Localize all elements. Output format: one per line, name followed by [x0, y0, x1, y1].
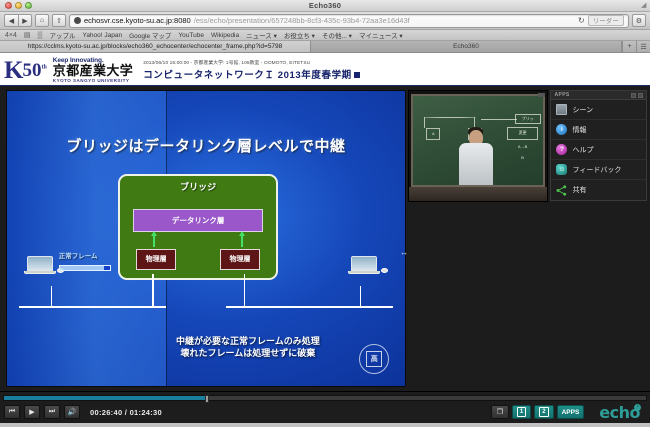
course-badge-icon [354, 72, 360, 78]
volume-button[interactable]: 🔊 [64, 405, 80, 419]
bookmark-item-wikipedia[interactable]: Wikipedia [211, 32, 239, 39]
arrow-up-left [151, 231, 157, 236]
computer-left-screen [27, 256, 53, 271]
computer-left-stand [51, 286, 53, 307]
logo-50-anniversary: 50th [22, 61, 46, 80]
bridge-group-box: ブリッジ データリンク層 物理層 物理層 [118, 174, 277, 280]
bridge-left-cable [152, 274, 154, 306]
reader-button[interactable]: リーダー [588, 15, 624, 26]
bridge-right-cable [244, 274, 246, 306]
browser-toolbar: ◀ ▶ ⌂ ⇧ echosvr.cse.kyoto-su.ac.jp:8080 … [0, 12, 650, 30]
computer-right-mouse [381, 268, 388, 273]
apps-item-feedback[interactable]: ☺ フィードバック [551, 160, 646, 180]
top-sites-icon[interactable]: ▒ [38, 32, 43, 39]
chalkboard-box-b: B [515, 152, 531, 164]
window-title: Echo360 [0, 1, 650, 10]
datalink-layer-box: データリンク層 [133, 209, 263, 231]
watermark-glyph: 高 [366, 351, 382, 367]
chalkboard-box-a: A [426, 128, 440, 140]
apps-item-feedback-label: フィードバック [572, 165, 621, 175]
bookmark-folder-news[interactable]: ニュース ▾ [246, 30, 277, 40]
layout-button[interactable]: ❐ [491, 405, 509, 419]
window-titlebar: Echo360 ◢ [0, 0, 650, 12]
next-button[interactable]: ⏭ [44, 405, 60, 419]
seek-bar[interactable] [3, 395, 647, 401]
chalk-stroke-2 [424, 117, 476, 118]
computer-left-base [24, 271, 56, 274]
feedback-icon: ☺ [556, 164, 567, 175]
slide-note: 中継が必要な正常フレームのみ処理 壊れたフレームは処理せずに破棄 [103, 335, 394, 359]
window-bottom-edge [0, 423, 650, 427]
bridge-label: ブリッジ [120, 180, 275, 193]
slide-note-line2: 壊れたフレームは処理せずに破棄 [103, 347, 394, 359]
address-bar-actions: ↻ リーダー [578, 15, 624, 26]
apps-item-scene[interactable]: シーン [551, 100, 646, 120]
video-corner-marker [538, 93, 545, 97]
chalkboard-note-2: A→B [507, 141, 538, 153]
echo360-logo: echo° [599, 403, 640, 422]
chalk-stroke-1 [424, 117, 425, 128]
apps-item-help-label: ヘルプ [572, 145, 593, 155]
chalkboard: ブリッ A V 変更 A→B B [411, 94, 545, 187]
share-button[interactable]: ⇧ [52, 14, 66, 27]
browser-window: Echo360 ◢ ◀ ▶ ⌂ ⇧ echosvr.cse.kyoto-su.a… [0, 0, 650, 427]
lock-icon [74, 17, 81, 24]
reading-list-icon[interactable]: ▤ [24, 31, 31, 39]
nav-button-group: ◀ ▶ [4, 14, 32, 27]
normal-frame-label: 正常フレーム [59, 250, 98, 260]
bookmarks-bar: 4×4 ▤ ▒ アップル Yahoo! Japan Google マップ You… [0, 30, 650, 41]
apps-item-share[interactable]: 共有 [551, 180, 646, 200]
presentation-meta-block: 2013/06/10 15:00:00 - 京都産業大学: 1号館, 105教室… [143, 59, 360, 81]
apps-item-help[interactable]: ? ヘルプ [551, 140, 646, 160]
forward-button[interactable]: ▶ [18, 14, 32, 27]
seek-row [0, 392, 650, 401]
kyoto-sangyo-logo: K 50th [4, 58, 47, 83]
bookmark-folder-mynews[interactable]: マイニュース ▾ [359, 30, 403, 40]
new-tab-button[interactable]: + [622, 41, 636, 52]
apps-panel-header-buttons[interactable] [631, 93, 643, 98]
physical-layer-left-box: 物理層 [136, 249, 176, 269]
info-icon: i [556, 124, 567, 135]
lecturer-video[interactable]: ブリッ A V 変更 A→B B [408, 90, 548, 202]
slide-canvas: ブリッジはデータリンク層レベルで中継 ブリッジ データリンク層 物理層 物理層 [6, 90, 406, 387]
slide-note-line1: 中継が必要な正常フレームのみ処理 [103, 335, 394, 347]
arrow-up-right [239, 231, 245, 236]
apps-item-scene-label: シーン [572, 105, 593, 115]
tab-cclms[interactable]: https://cclms.kyoto-su.ac.jp/blocks/echo… [0, 41, 311, 52]
university-name-en: KYOTO SANGYO UNIVERSITY [53, 78, 133, 83]
computer-right-stand [360, 286, 362, 307]
player-controls-bar: ⏮ ▶ ⏭ 🔊 00:26:40 / 01:24:30 ❐ 1 2 APPS e… [0, 391, 650, 423]
normal-frame-packet [59, 265, 111, 271]
apps-panel-title: APPS [554, 92, 569, 98]
university-watermark: 高 [359, 344, 389, 374]
computer-right-base [348, 271, 380, 274]
address-bar[interactable]: echosvr.cse.kyoto-su.ac.jp:8080 /ess/ech… [69, 14, 629, 28]
physical-layer-right-box: 物理層 [220, 249, 260, 269]
scene-icon [556, 104, 567, 115]
computer-right [351, 256, 385, 274]
view-one-button[interactable]: 1 [512, 405, 531, 419]
url-path: /ess/echo/presentation/657248bb-8cf3-435… [194, 16, 410, 25]
apps-panel-header: APPS [551, 91, 646, 100]
logo-k-letter: K [4, 58, 21, 83]
slide-title: ブリッジはデータリンク層レベルで中継 [7, 135, 405, 156]
panel-resize-handle[interactable]: ↔ [400, 248, 408, 257]
tab-overview-button[interactable]: ☰ [636, 41, 650, 52]
lecture-desk [409, 187, 547, 201]
bookmark-folder-other[interactable]: その他... ▾ [322, 30, 352, 40]
previous-button[interactable]: ⏮ [4, 405, 20, 419]
help-icon: ? [556, 144, 567, 155]
course-title: コンピュータネットワークＩ 2013年度春学期 [143, 67, 360, 81]
chalk-stroke-4 [481, 119, 517, 120]
chalkboard-bridge-label: ブリッ [515, 114, 541, 124]
computer-left [27, 256, 61, 274]
lecturer-body [459, 143, 493, 185]
university-name-jp: 京都産業大学 [53, 64, 133, 78]
bookmark-folder-useful[interactable]: お役立ち ▾ [284, 30, 315, 40]
apps-item-info[interactable]: i 情報 [551, 120, 646, 140]
settings-button[interactable]: ⚙ [632, 14, 646, 27]
bookmark-item-googlemaps[interactable]: Google マップ [129, 30, 171, 40]
resize-handle[interactable]: ◢ [641, 2, 648, 9]
apps-minimize-icon[interactable] [631, 93, 636, 98]
tab-echo360[interactable]: Echo360 [311, 41, 622, 52]
back-button[interactable]: ◀ [4, 14, 18, 27]
slide-panel[interactable]: ブリッジはデータリンク層レベルで中継 ブリッジ データリンク層 物理層 物理層 [0, 86, 406, 391]
time-display: 00:26:40 / 01:24:30 [90, 408, 162, 417]
home-button[interactable]: ⌂ [35, 14, 49, 27]
chalkboard-note-1: 変更 [507, 127, 538, 139]
presentation-datetime-location: 2013/06/10 15:00:00 - 京都産業大学: 1号館, 105教室… [143, 59, 360, 66]
url-host: echosvr.cse.kyoto-su.ac.jp:8080 [84, 16, 191, 25]
share-icon [556, 185, 567, 196]
transport-controls: ⏮ ▶ ⏭ 🔊 00:26:40 / 01:24:30 ❐ 1 2 APPS e… [0, 401, 650, 423]
page-header: K 50th Keep Innovating. 京都産業大学 KYOTO SAN… [0, 53, 650, 86]
bookmark-item-apple[interactable]: アップル [49, 30, 75, 40]
computer-right-screen [351, 256, 377, 271]
right-controls: ❐ 1 2 APPS echo° [491, 403, 646, 422]
apps-panel: APPS シーン i 情報 ? ヘルプ ☺ フィードバック [550, 90, 647, 201]
bookmark-item-youtube[interactable]: YouTube [178, 32, 204, 39]
video-panel[interactable]: ブリッ A V 変更 A→B B [406, 86, 550, 391]
seek-handle[interactable] [205, 395, 209, 403]
university-name-block: Keep Innovating. 京都産業大学 KYOTO SANGYO UNI… [53, 57, 133, 83]
play-button[interactable]: ▶ [24, 405, 40, 419]
apps-close-icon[interactable] [638, 93, 643, 98]
bus-line-right [226, 306, 393, 308]
bus-line-left [19, 306, 166, 308]
tab-bar: https://cclms.kyoto-su.ac.jp/blocks/echo… [0, 41, 650, 53]
apps-toggle-button[interactable]: APPS [557, 405, 585, 419]
seek-progress [4, 396, 207, 400]
apps-item-info-label: 情報 [572, 125, 586, 135]
bookmark-item-yahoo[interactable]: Yahoo! Japan [82, 32, 122, 39]
apps-item-share-label: 共有 [572, 185, 586, 195]
reload-icon[interactable]: ↻ [578, 16, 585, 25]
bookmark-item-0[interactable]: 4×4 [5, 32, 17, 39]
view-two-button[interactable]: 2 [534, 405, 553, 419]
echo-360-badge: ° [634, 404, 641, 411]
player-stage: ブリッジはデータリンク層レベルで中継 ブリッジ データリンク層 物理層 物理層 [0, 86, 650, 391]
